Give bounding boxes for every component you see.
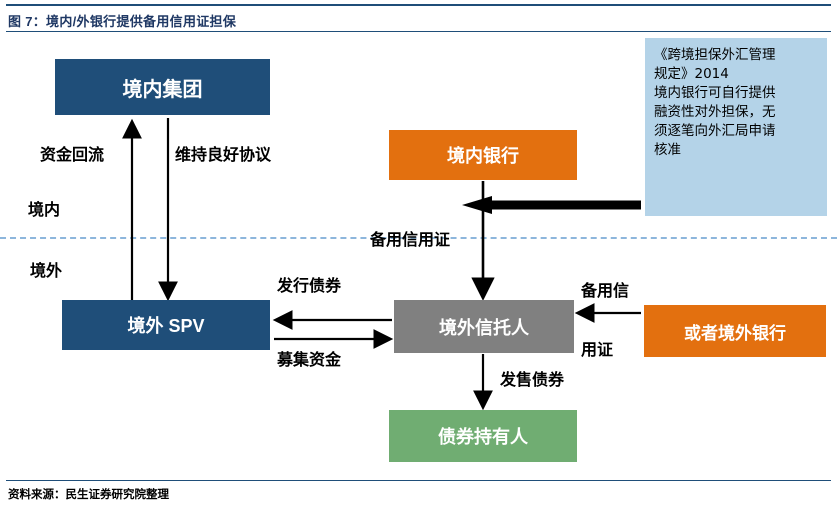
note-line-3: 境内银行可自行提供 <box>654 84 818 103</box>
node-offshore-bank[interactable]: 或者境外银行 <box>644 305 826 357</box>
source-note: 资料来源：民生证券研究院整理 <box>8 486 169 502</box>
header-rule-bottom <box>6 31 831 32</box>
node-domestic-group[interactable]: 境内集团 <box>55 59 270 115</box>
regulation-note: 《跨境担保外汇管理 规定》2014 境内银行可自行提供 融资性对外担保，无 须逐… <box>645 38 827 216</box>
diagram-root: 图 7：境内/外银行提供备用信用证担保 境内 <box>0 0 837 508</box>
figure-title: 图 7：境内/外银行提供备用信用证担保 <box>8 11 236 30</box>
label-issue-bond: 发行债券 <box>277 272 341 296</box>
note-line-2: 规定》2014 <box>654 65 818 84</box>
label-maintain-agreement: 维持良好协议 <box>175 141 271 165</box>
label-sell-bond: 发售债券 <box>500 366 564 390</box>
node-offshore-spv[interactable]: 境外 SPV <box>62 300 270 350</box>
header-rule-top <box>6 4 831 6</box>
label-standby-lc-2-line2: 用证 <box>581 336 613 360</box>
node-offshore-trustee[interactable]: 境外信托人 <box>394 300 574 353</box>
label-offshore: 境外 <box>30 257 62 281</box>
label-capital-return: 资金回流 <box>40 141 104 165</box>
node-bondholder[interactable]: 债券持有人 <box>389 410 577 462</box>
label-standby-lc-2-line1: 备用信 <box>581 277 629 301</box>
label-standby-lc: 备用信用证 <box>370 226 450 250</box>
note-line-4: 融资性对外担保，无 <box>654 103 818 122</box>
footer-rule <box>6 480 831 481</box>
note-line-1: 《跨境担保外汇管理 <box>654 46 818 65</box>
label-raise-funds: 募集资金 <box>277 346 341 370</box>
label-onshore: 境内 <box>28 196 60 220</box>
note-line-6: 核准 <box>654 141 818 160</box>
note-line-5: 须逐笔向外汇局申请 <box>654 122 818 141</box>
node-domestic-bank[interactable]: 境内银行 <box>389 130 577 180</box>
